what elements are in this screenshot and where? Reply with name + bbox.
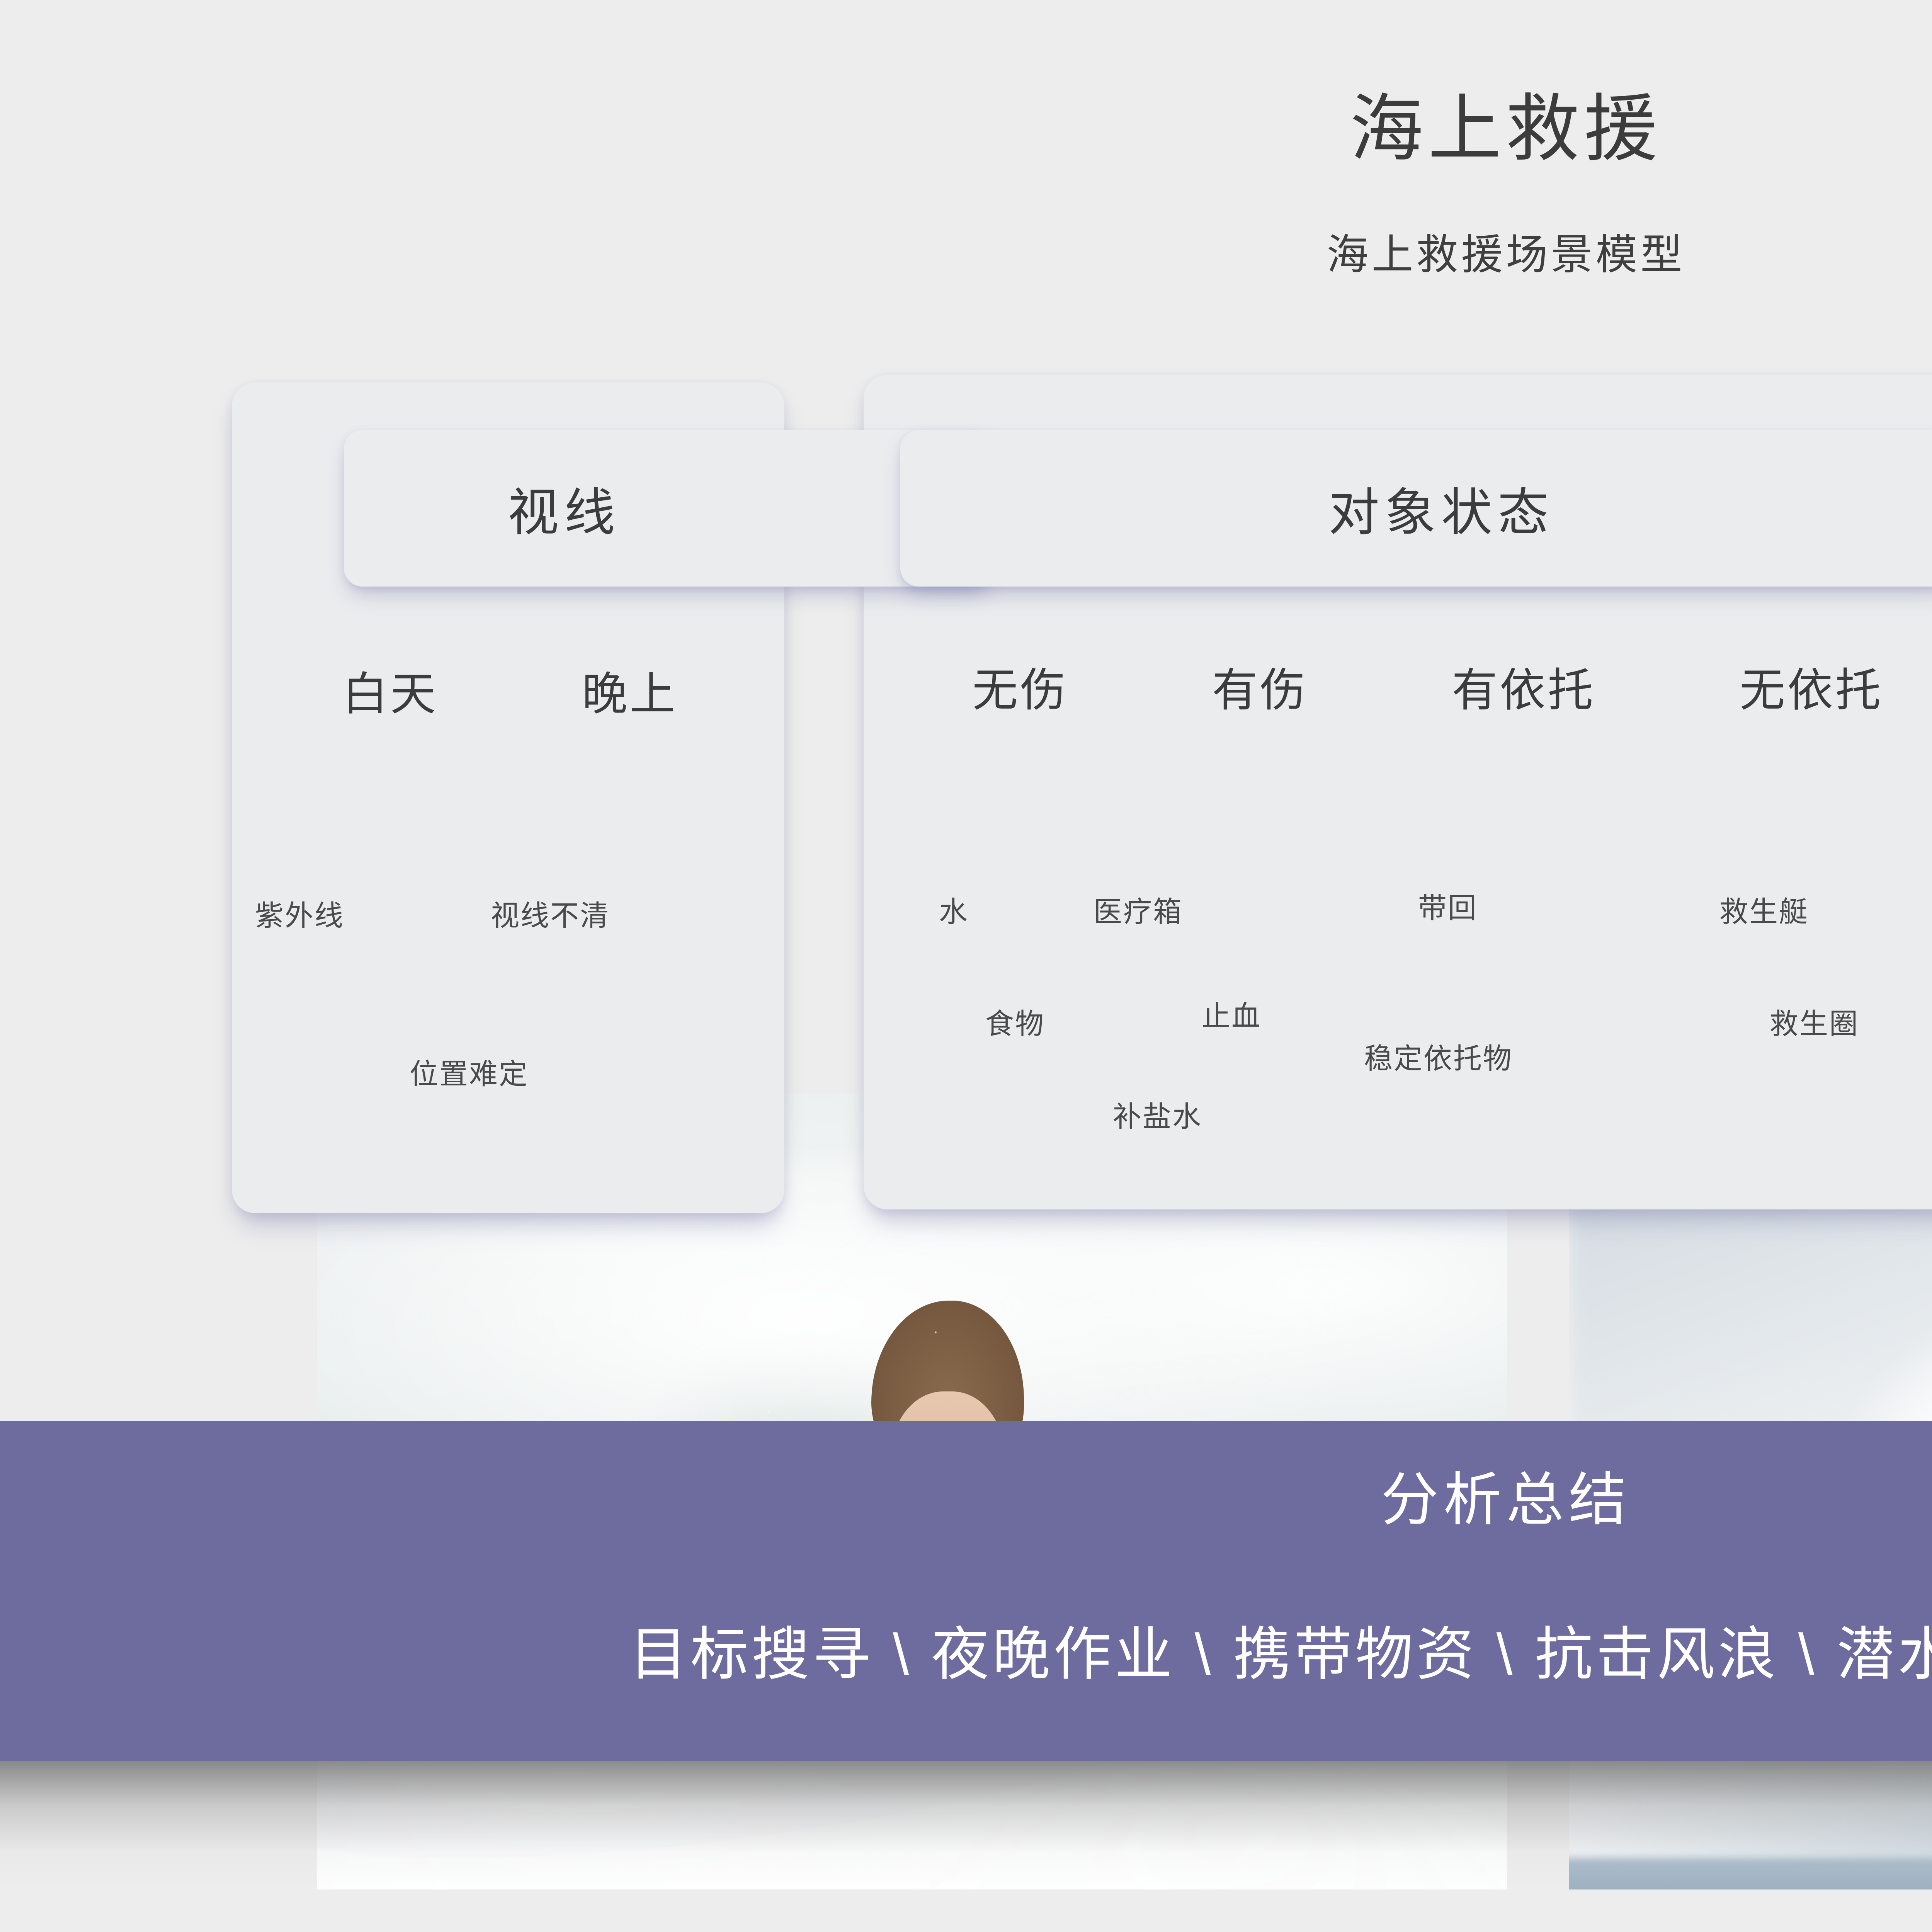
item-object-state-2[interactable]: 有依托 <box>1452 653 1595 719</box>
slide-canvas: 海上救援 海上救援场景模型 <box>0 0 1932 1932</box>
card-title-object-state: 对象状态 <box>900 444 1932 572</box>
item-object-state-3[interactable]: 无依托 <box>1740 653 1883 719</box>
sub-visibility-0[interactable]: 紫外线 <box>255 893 344 934</box>
sub-visibility-2[interactable]: 位置难定 <box>410 1051 529 1092</box>
sub-object-state-6[interactable]: 稳定依托物 <box>1364 1036 1513 1077</box>
item-object-state-1[interactable]: 有伤 <box>1212 653 1308 719</box>
sub-object-state-5[interactable]: 带回 <box>1418 885 1478 926</box>
item-visibility-1[interactable]: 晚上 <box>582 657 678 723</box>
item-row-visibility: 白天 晚上 <box>270 657 750 723</box>
page-subtitle: 海上救援场景模型 <box>0 232 1932 278</box>
sub-object-state-3[interactable]: 止血 <box>1202 993 1261 1034</box>
sub-object-state-7[interactable]: 救生艇 <box>1719 889 1809 930</box>
sub-object-state-1[interactable]: 食物 <box>985 1001 1045 1042</box>
sub-object-state-0[interactable]: 水 <box>939 889 969 930</box>
item-row-object-state: 无伤 有伤 有依托 无依托 <box>900 653 1932 719</box>
page-title: 海上救援 <box>0 89 1932 170</box>
card-title-visibility: 视线 <box>344 444 784 572</box>
summary-title: 分析总结 <box>0 1453 1932 1537</box>
item-visibility-0[interactable]: 白天 <box>342 657 438 723</box>
summary-list: 目标搜寻 \ 夜晚作业 \ 携带物资 \ 抗击风浪 \ 潜水搜救 \ 携人回游 <box>0 1607 1932 1691</box>
sub-visibility-1[interactable]: 视线不清 <box>491 893 610 934</box>
sub-object-state-2[interactable]: 医疗箱 <box>1094 889 1183 930</box>
item-object-state-0[interactable]: 无伤 <box>972 653 1068 719</box>
sub-object-state-8[interactable]: 救生圈 <box>1770 1001 1859 1042</box>
sub-object-state-4[interactable]: 补盐水 <box>1113 1094 1202 1135</box>
